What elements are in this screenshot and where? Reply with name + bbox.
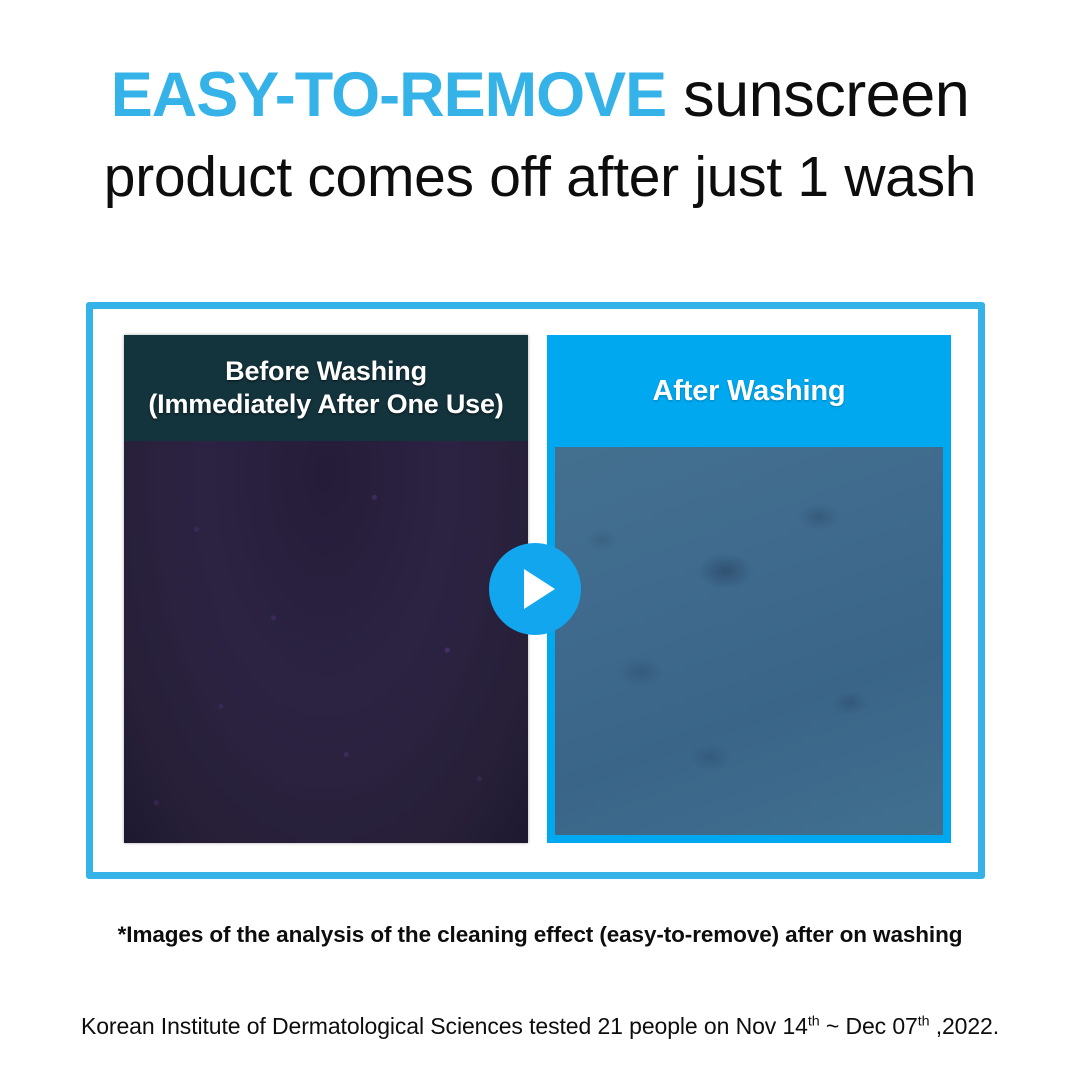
footnote-superscript-1: th (808, 1013, 820, 1029)
headline-accent-text: EASY-TO-REMOVE (111, 60, 666, 130)
headline-line-2: product comes off after just 1 wash (0, 142, 1080, 212)
play-triangle-icon (524, 569, 555, 609)
play-button[interactable] (489, 543, 581, 635)
footnote-part-2: ~ Dec 07 (820, 1013, 918, 1039)
footnote: Korean Institute of Dermatological Scien… (0, 1013, 1080, 1040)
before-washing-panel: Before Washing (Immediately After One Us… (124, 335, 528, 843)
comparison-frame: Before Washing (Immediately After One Us… (86, 302, 985, 879)
comparison-inner: Before Washing (Immediately After One Us… (93, 309, 978, 872)
headline-line-1: EASY-TO-REMOVE sunscreen (0, 58, 1080, 132)
after-washing-panel: After Washing (547, 335, 951, 843)
footnote-part-3: ,2022. (929, 1013, 999, 1039)
headline-plain-text: sunscreen (666, 60, 969, 130)
before-washing-label-line1: Before Washing (225, 355, 427, 388)
after-washing-label: After Washing (653, 374, 846, 408)
before-washing-label-line2: (Immediately After One Use) (148, 388, 503, 421)
after-washing-label-band: After Washing (547, 335, 951, 447)
before-washing-label-band: Before Washing (Immediately After One Us… (124, 335, 528, 441)
footnote-superscript-2: th (918, 1013, 930, 1029)
footnote-part-1: Korean Institute of Dermatological Scien… (81, 1013, 808, 1039)
before-washing-uv-image (124, 441, 528, 843)
after-washing-uv-image (555, 447, 943, 835)
headline-block: EASY-TO-REMOVE sunscreen product comes o… (0, 58, 1080, 212)
caption-note: *Images of the analysis of the cleaning … (0, 922, 1080, 948)
